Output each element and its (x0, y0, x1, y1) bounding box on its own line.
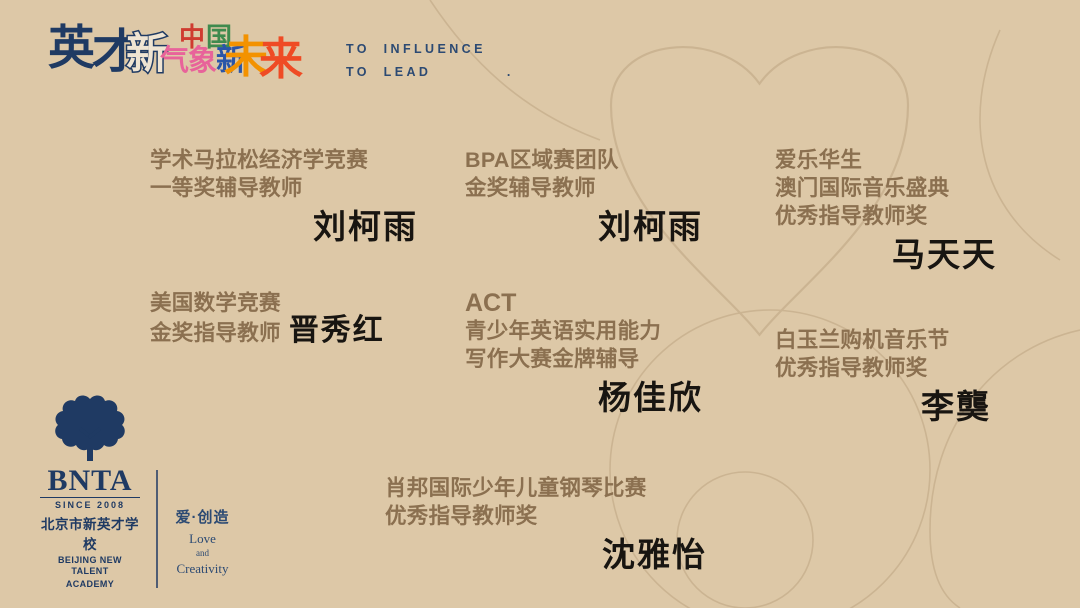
bnta-name-cn: 北京市新英才学校 (40, 513, 140, 553)
teacher-name-row: 金奖指导教师 晋秀红 (150, 317, 385, 347)
teacher-name: 李龑 (921, 390, 991, 426)
english-tagline: TO INFLUENCE TO LEAD . (346, 38, 514, 84)
award-block-chopin-piano: 肖邦国际少年儿童钢琴比赛 优秀指导教师奖 沈雅怡 (385, 474, 707, 576)
slogan-en-line1: Love (189, 531, 216, 546)
bnta-logo: BNTA SINCE 2008 北京市新英才学校 BEIJING NEW TAL… (40, 393, 140, 590)
award-title-line: 肖邦国际少年儿童钢琴比赛 (385, 474, 707, 502)
award-title-line: 优秀指导教师奖 (385, 502, 707, 530)
award-title-line: 青少年英语实用能力 (465, 317, 703, 345)
bnta-since: SINCE 2008 (40, 497, 140, 510)
award-block-academic-marathon: 学术马拉松经济学竞赛 一等奖辅导教师 刘柯雨 (150, 146, 418, 248)
presentation-slide: 英 才 新 中 国 气 象 新 未 来 TO INFLUENCE TO LEAD… (0, 0, 1080, 608)
campaign-logo: 英 才 新 中 国 气 象 新 未 来 (48, 22, 288, 84)
teacher-name-row: 刘柯雨 (150, 208, 418, 248)
teacher-name: 杨佳欣 (598, 381, 703, 417)
teacher-name-row: 刘柯雨 (465, 208, 703, 248)
teacher-name-row: 李龑 (775, 388, 991, 428)
slogan-en-and: and (176, 546, 230, 561)
bnta-name-en-line1: BEIJING NEW TALENT (40, 555, 140, 577)
teacher-name: 刘柯雨 (313, 210, 418, 246)
logo-char-qi: 气 (160, 47, 188, 76)
award-title-line: 优秀指导教师奖 (775, 202, 997, 230)
teacher-name-row: 沈雅怡 (385, 536, 707, 576)
award-title-line: 美国数学竞赛 (150, 289, 385, 317)
award-title-line: 白玉兰购机音乐节 (775, 326, 991, 354)
award-title-line: 学术马拉松经济学竞赛 (150, 146, 418, 174)
brand-divider (156, 470, 158, 588)
slogan-en-line2: Creativity (177, 561, 229, 576)
logo-char-ying: 英 (48, 24, 94, 71)
award-title-line: 一等奖辅导教师 (150, 174, 418, 202)
slogan-cn: 爱·创造 (176, 506, 230, 527)
tagline-line-2: TO LEAD . (346, 65, 514, 79)
tree-icon (47, 393, 133, 465)
logo-char-lai: 来 (259, 38, 302, 82)
award-title-line: 写作大赛金牌辅导 (465, 345, 703, 373)
award-block-amc: 美国数学竞赛 金奖指导教师 晋秀红 (150, 289, 385, 347)
award-title-line: 金奖辅导教师 (465, 174, 703, 202)
teacher-name-row: 马天天 (775, 236, 997, 276)
award-block-bpa: BPA区域赛团队 金奖辅导教师 刘柯雨 (465, 146, 703, 248)
teacher-name: 马天天 (892, 238, 997, 274)
award-block-act: ACT 青少年英语实用能力 写作大赛金牌辅导 杨佳欣 (465, 289, 703, 419)
teacher-name: 刘柯雨 (598, 210, 703, 246)
bnta-name-en-line2: ACADEMY (40, 579, 140, 590)
tagline-line-1: TO INFLUENCE (346, 42, 486, 56)
award-title-line: 爱乐华生 (775, 146, 997, 174)
teacher-name-row: 杨佳欣 (465, 379, 703, 419)
award-title-line: 金奖指导教师 (150, 319, 281, 347)
slide-header: 英 才 新 中 国 气 象 新 未 来 TO INFLUENCE TO LEAD… (48, 22, 514, 84)
award-title-latin: ACT (465, 289, 703, 317)
school-brand-footer: BNTA SINCE 2008 北京市新英才学校 BEIJING NEW TAL… (40, 393, 230, 590)
bnta-acronym: BNTA (40, 466, 140, 496)
award-title-line: 优秀指导教师奖 (775, 354, 991, 382)
award-title-line: BPA区域赛团队 (465, 146, 703, 174)
logo-char-xiang: 象 (188, 47, 216, 76)
award-title-line: 澳门国际音乐盛典 (775, 174, 997, 202)
teacher-name: 沈雅怡 (602, 538, 707, 574)
slogan-en: Love and Creativity (176, 531, 230, 576)
award-block-macau-music: 爱乐华生 澳门国际音乐盛典 优秀指导教师奖 马天天 (775, 146, 997, 276)
teacher-name: 晋秀红 (289, 317, 385, 345)
award-block-magnolia-music: 白玉兰购机音乐节 优秀指导教师奖 李龑 (775, 326, 991, 428)
school-slogan: 爱·创造 Love and Creativity (176, 506, 230, 590)
